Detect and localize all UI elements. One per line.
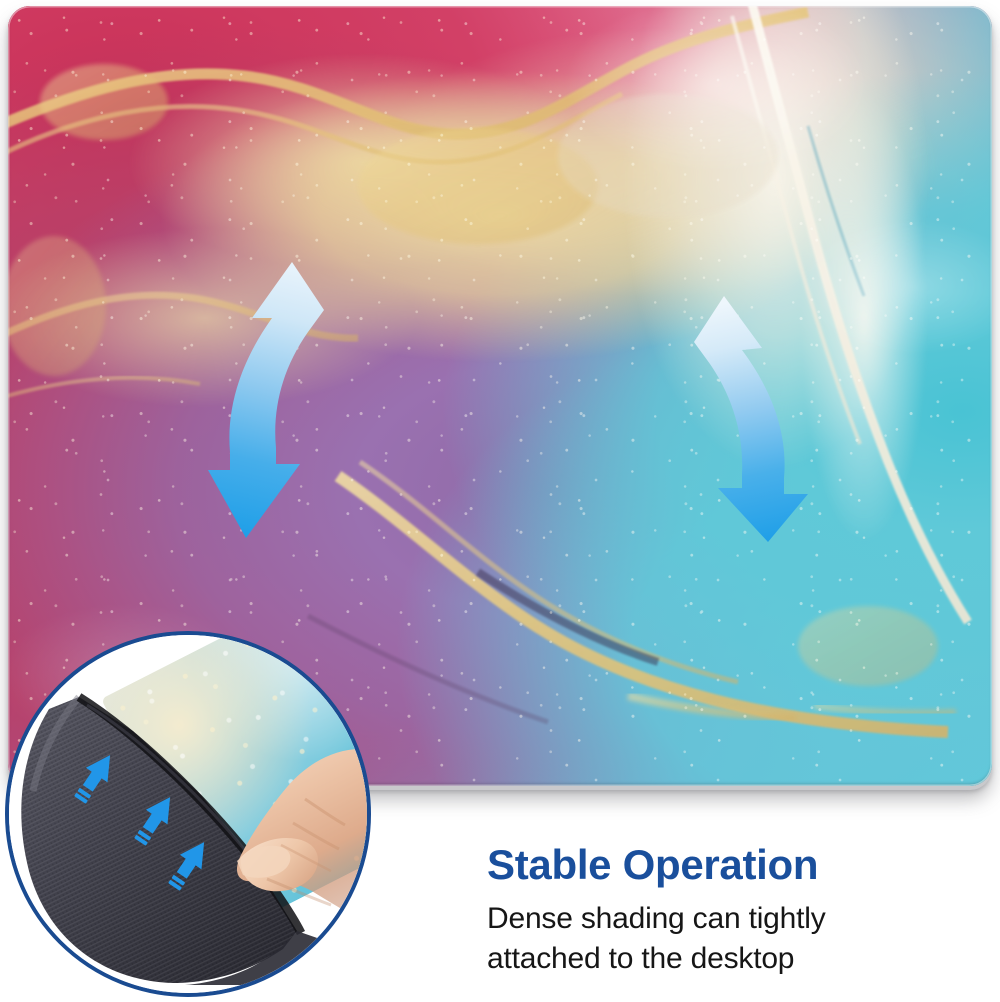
product-feature-image: Stable Operation Dense shading can tight… — [0, 0, 1000, 1002]
inset-photo — [5, 631, 371, 997]
curved-double-arrow-left-icon — [196, 256, 332, 548]
feature-headline: Stable Operation — [487, 841, 947, 889]
feature-description: Dense shading can tightly attached to th… — [487, 899, 937, 979]
hand-lifting-pad — [5, 631, 371, 997]
curved-double-arrow-right-icon — [684, 292, 820, 548]
feature-copy: Stable Operation Dense shading can tight… — [487, 841, 947, 979]
non-slip-base-closeup-inset — [5, 631, 371, 997]
